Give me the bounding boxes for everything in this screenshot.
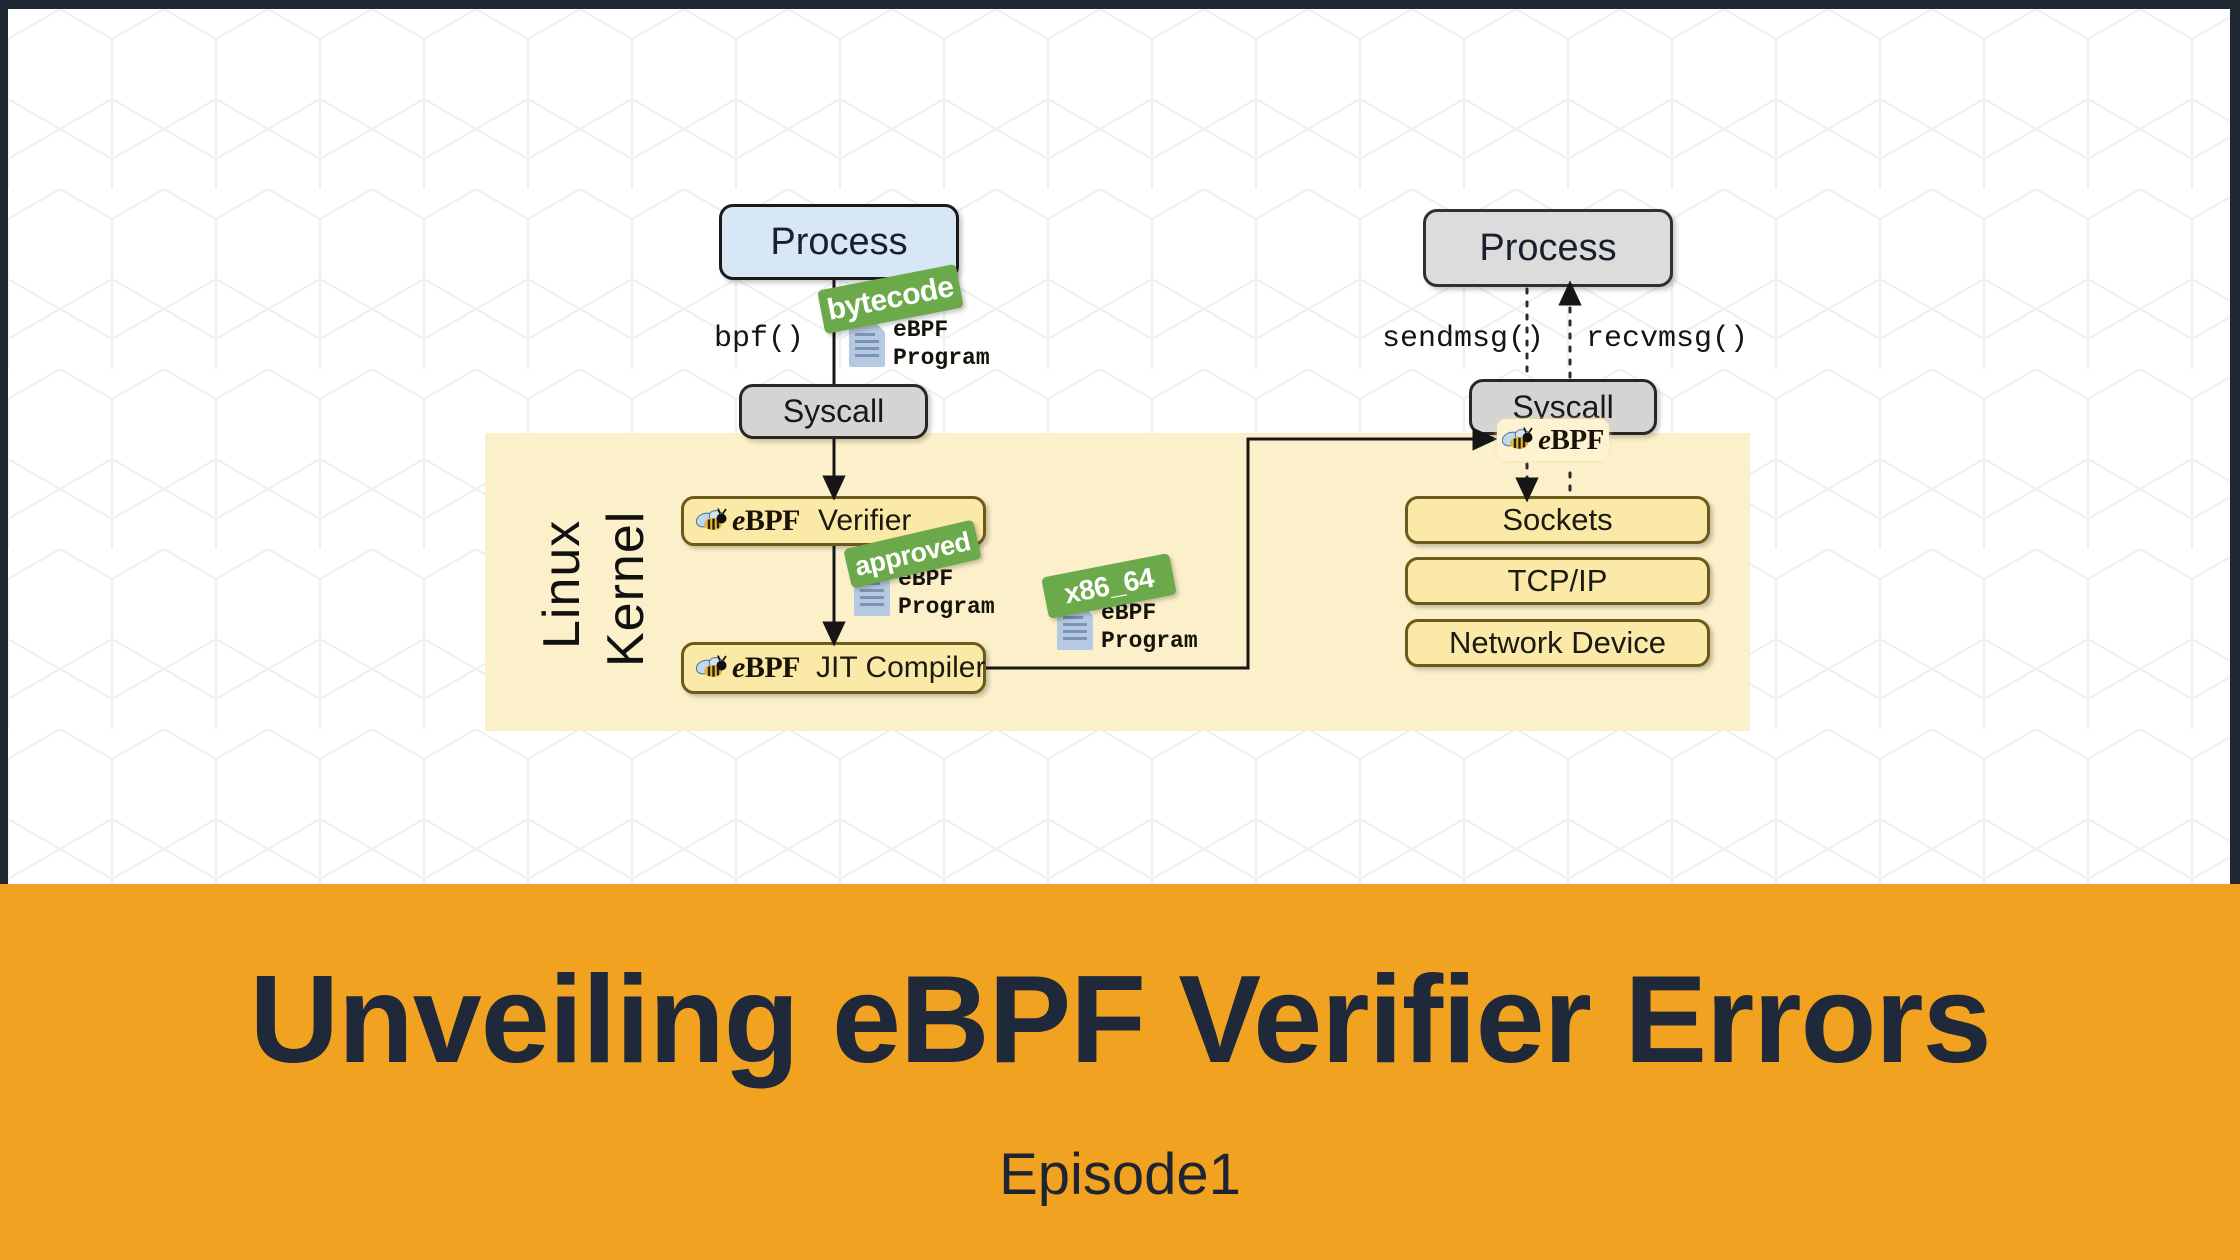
page-title: Unveiling eBPF Verifier Errors: [0, 958, 2240, 1082]
network-stack-sockets[interactable]: Sockets: [1405, 496, 1710, 544]
bee-icon: [696, 653, 730, 683]
kernel-component-jit-compiler[interactable]: eBPF JIT Compiler: [681, 642, 986, 694]
window-frame-top: [0, 0, 2240, 9]
sockets-label: Sockets: [1502, 502, 1612, 538]
syscall-label-left: Syscall: [783, 393, 884, 430]
caption-line-2: Program: [898, 594, 995, 620]
window-frame-left: [0, 0, 8, 884]
process-label-right: Process: [1479, 227, 1616, 270]
syscall-box-left[interactable]: Syscall: [739, 384, 928, 439]
slide-canvas: Linux Kernel: [0, 0, 2240, 1260]
ebpf-logo: eBPF: [696, 504, 800, 538]
ebpf-logo: eBPF: [696, 651, 800, 685]
verifier-label: Verifier: [818, 504, 911, 538]
recvmsg-label: recvmsg(): [1586, 322, 1748, 356]
network-stack-network-device[interactable]: Network Device: [1405, 619, 1710, 667]
bee-icon: [696, 506, 730, 536]
ebpf-wordmark: eBPF: [732, 504, 800, 538]
slide-background: Linux Kernel: [8, 9, 2230, 884]
architecture-diagram: Linux Kernel: [8, 9, 2230, 884]
ebpf-hook-badge[interactable]: eBPF: [1497, 419, 1609, 461]
kernel-label-linux: Linux: [532, 520, 592, 649]
ebpf-wordmark: eBPF: [1538, 424, 1604, 457]
sendmsg-label: sendmsg(): [1382, 322, 1544, 356]
bee-icon: [1502, 425, 1536, 455]
bpf-syscall-label: bpf(): [714, 322, 804, 356]
network-device-label: Network Device: [1449, 625, 1666, 661]
title-banner: Unveiling eBPF Verifier Errors Episode1: [0, 884, 2240, 1260]
network-stack-tcpip[interactable]: TCP/IP: [1405, 557, 1710, 605]
caption-line-2: Program: [893, 345, 990, 371]
window-frame-right: [2230, 0, 2240, 884]
ebpf-wordmark: eBPF: [732, 651, 800, 685]
process-box-left[interactable]: Process: [719, 204, 959, 280]
page-subtitle: Episode1: [0, 1146, 2240, 1204]
ebpf-program-caption: eBPF Program: [893, 316, 990, 372]
process-box-right[interactable]: Process: [1423, 209, 1673, 287]
caption-line-1: eBPF: [893, 317, 948, 343]
process-label-left: Process: [770, 221, 907, 264]
ebpf-program-caption: eBPF Program: [1101, 599, 1198, 655]
kernel-label-kernel: Kernel: [596, 511, 656, 667]
tcpip-label: TCP/IP: [1508, 563, 1608, 599]
jit-compiler-label: JIT Compiler: [816, 651, 985, 685]
caption-line-2: Program: [1101, 628, 1198, 654]
